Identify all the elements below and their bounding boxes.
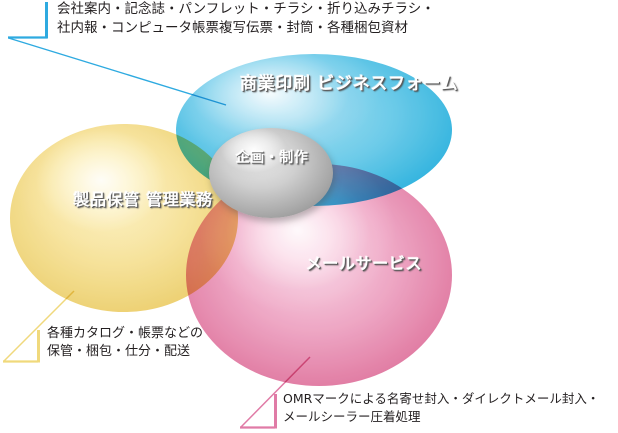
callout-text-product-storage: 各種カタログ・帳票などの 保管・梱包・仕分・配送 <box>47 325 203 362</box>
callout-line: メールシーラー圧着処理 <box>283 408 599 426</box>
bubble-group <box>0 0 618 433</box>
callout-line: 保管・梱包・仕分・配送 <box>47 343 203 361</box>
diagram-canvas: 商業印刷 ビジネスフォーム 製品保管 管理業務 メールサービス 企画・制作 会社… <box>0 0 618 433</box>
callout-text-commercial-printing: 会社案内・記念誌・パンフレット・チラシ・折り込みチラシ・ 社内報・コンピュータ帳… <box>57 0 435 38</box>
callout-line: 社内報・コンピュータ帳票複写伝票・封筒・各種梱包資材 <box>57 19 435 38</box>
bubble-planning-production[interactable] <box>209 128 333 218</box>
callout-line: OMRマークによる名寄せ封入・ダイレクトメール封入・ <box>283 390 599 408</box>
callout-text-mail-service: OMRマークによる名寄せ封入・ダイレクトメール封入・ メールシーラー圧着処理 <box>283 390 599 426</box>
callout-line: 各種カタログ・帳票などの <box>47 325 203 343</box>
callout-line: 会社案内・記念誌・パンフレット・チラシ・折り込みチラシ・ <box>57 0 435 19</box>
